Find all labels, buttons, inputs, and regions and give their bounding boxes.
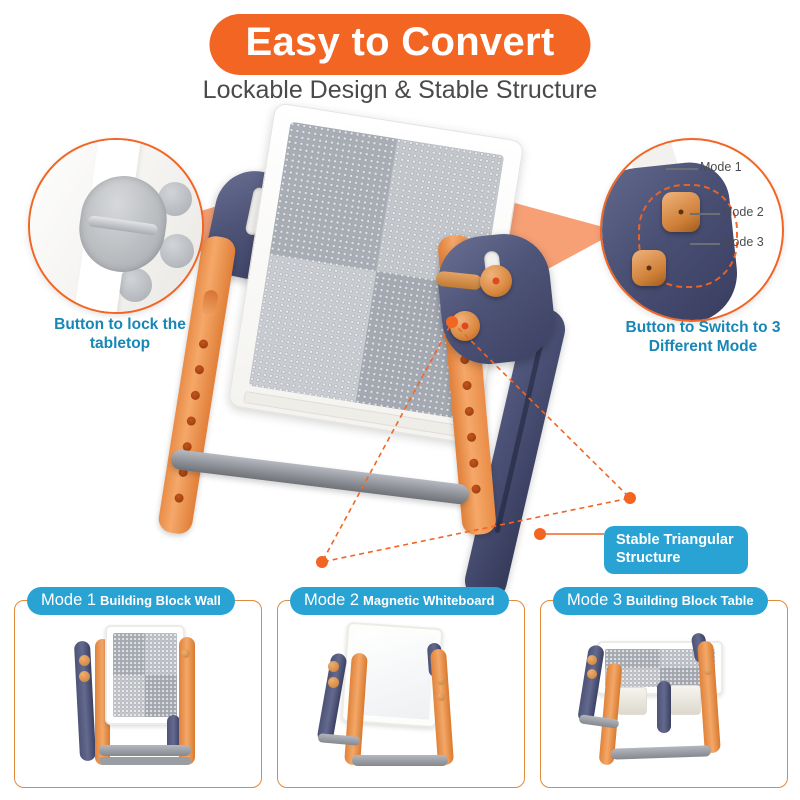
- triangle-leader-dot: [534, 528, 546, 540]
- badge-stable-triangular-structure: Stable Triangular Structure: [604, 526, 748, 574]
- page-title: Easy to Convert: [209, 14, 590, 75]
- hero-section: Mode 1 Mode 2 Mode 3 Button to lock the …: [0, 110, 800, 590]
- mode-panel-3[interactable]: Mode 3Building Block Table: [540, 600, 788, 788]
- mode-panel-2-desc: Magnetic Whiteboard: [363, 593, 494, 608]
- storage-bin-left: [617, 687, 647, 715]
- mode-panel-3-label: Mode 3Building Block Table: [553, 587, 768, 615]
- mode-3-label: Mode 3: [722, 235, 764, 249]
- mode-panel-1-label: Mode 1Building Block Wall: [27, 587, 235, 615]
- callout-lock-tabletop: Button to lock the tabletop: [30, 315, 210, 354]
- mode-2-label: Mode 2: [722, 205, 764, 219]
- mode-panel-2-number: Mode 2: [304, 591, 359, 609]
- mode-2-leader: [690, 213, 720, 215]
- triangle-vertex-left: [316, 556, 328, 568]
- mode-3-illustration: [541, 619, 787, 785]
- header: Easy to Convert Lockable Design & Stable…: [0, 0, 800, 115]
- mode-1-illustration: [15, 619, 261, 785]
- mode-1-leader: [666, 168, 698, 170]
- mode-panels: Mode 1Building Block Wall: [0, 590, 800, 800]
- mode-2-illustration: [278, 619, 524, 785]
- triangle-vertex-right: [624, 492, 636, 504]
- mode-3-leader: [690, 243, 720, 245]
- mode-panel-3-desc: Building Block Table: [626, 593, 754, 608]
- mode-1-label: Mode 1: [700, 160, 742, 174]
- magnifier-mode-switch: [600, 138, 784, 322]
- mode-panel-1-desc: Building Block Wall: [100, 593, 221, 608]
- storage-bin-right: [669, 685, 701, 715]
- mode-panel-3-number: Mode 3: [567, 591, 622, 609]
- mode-panel-2-label: Mode 2Magnetic Whiteboard: [290, 587, 509, 615]
- mode-knob-closeup-lower: [632, 250, 666, 286]
- mode-knob-upper: [480, 265, 512, 297]
- mode-knob-closeup-upper: [662, 192, 700, 232]
- page-subtitle: Lockable Design & Stable Structure: [203, 76, 598, 105]
- magnifier-lock-button: [28, 138, 204, 314]
- callout-mode-switch: Button to Switch to 3 Different Mode: [608, 318, 798, 357]
- cross-bar: [170, 449, 470, 505]
- mode-panel-1[interactable]: Mode 1Building Block Wall: [14, 600, 262, 788]
- triangle-vertex-top: [446, 316, 458, 328]
- product-illustration: [150, 115, 670, 585]
- infographic-page: Easy to Convert Lockable Design & Stable…: [0, 0, 800, 800]
- mode-panel-1-number: Mode 1: [41, 591, 96, 609]
- hinge-bracket-right: [434, 229, 559, 368]
- mode-panel-2[interactable]: Mode 2Magnetic Whiteboard: [277, 600, 525, 788]
